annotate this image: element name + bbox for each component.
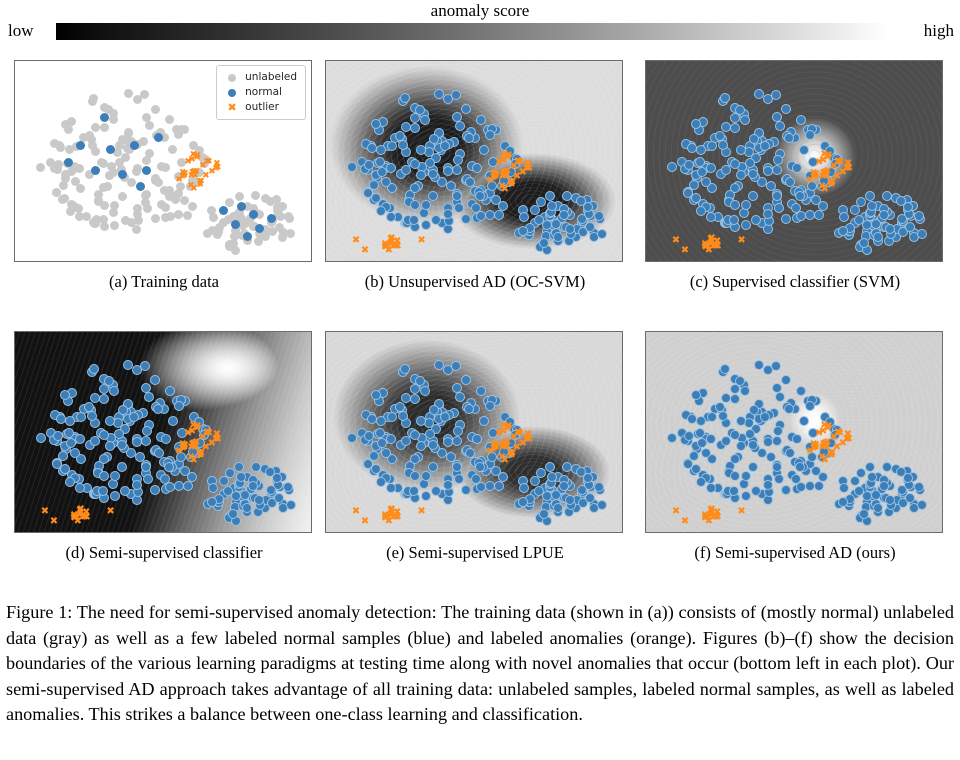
normal-point (720, 364, 730, 374)
normal-point (799, 416, 809, 426)
normal-point (706, 434, 716, 444)
normal-point (114, 429, 124, 439)
novel-anomaly-marker: ✖ (701, 513, 709, 523)
normal-point (741, 200, 751, 210)
labeled-normal-point (142, 166, 151, 175)
normal-point (701, 448, 711, 458)
normal-point (687, 414, 697, 424)
normal-point (696, 145, 706, 155)
normal-point (376, 145, 386, 155)
normal-point (518, 226, 528, 236)
normal-point (387, 141, 397, 151)
labeled-normal-point (154, 133, 163, 142)
normal-point (773, 426, 783, 436)
normal-point (882, 462, 892, 472)
normal-point (451, 361, 461, 371)
labeled-anomaly-marker: ✖ (489, 173, 497, 183)
panel-b-unsupervised-ad: ✖✖✖✖✖✖✖✖✖✖✖✖✖✖✖✖✖✖✖✖✖✖✖✖✖✖✖✖✖✖✖✖✖✖✖✖✖✖✖✖… (325, 60, 625, 292)
unlabeled-point (118, 192, 127, 201)
legend-item-outlier: ✖ outlier (223, 100, 297, 115)
normal-point (36, 433, 46, 443)
novel-anomaly-marker: ✖ (381, 242, 389, 252)
labeled-normal-point (267, 214, 276, 223)
normal-point (597, 500, 607, 510)
novel-anomaly-marker: ✖ (361, 246, 369, 256)
unlabeled-point (100, 201, 109, 210)
normal-point (387, 412, 397, 422)
normal-point (234, 462, 244, 472)
normal-point (683, 188, 693, 198)
normal-point (65, 477, 75, 487)
labeled-anomaly-marker: ✖ (834, 157, 842, 167)
unlabeled-point (110, 201, 119, 210)
normal-point (434, 89, 444, 99)
normal-point (420, 386, 430, 396)
labeled-normal-point (219, 206, 228, 215)
normal-point (219, 476, 229, 486)
normal-point (452, 436, 462, 446)
labeled-anomaly-marker: ✖ (178, 444, 186, 454)
normal-point (421, 491, 431, 501)
panel-c-scatter: ✖✖✖✖✖✖✖✖✖✖✖✖✖✖✖✖✖✖✖✖✖✖✖✖✖✖✖✖✖✖✖✖✖✖✖✖✖✖✖✖… (646, 61, 942, 261)
normal-point (109, 386, 119, 396)
normal-point (687, 143, 697, 153)
colorbar-low-label: low (8, 21, 34, 41)
normal-point (667, 162, 677, 172)
normal-point (472, 163, 482, 173)
normal-point (805, 401, 815, 411)
normal-point (453, 155, 463, 165)
unlabeled-point (140, 90, 149, 99)
panel-f-semi-supervised-ad-ours: ✖✖✖✖✖✖✖✖✖✖✖✖✖✖✖✖✖✖✖✖✖✖✖✖✖✖✖✖✖✖✖✖✖✖✖✖✖✖✖✖… (645, 331, 945, 563)
normal-point (52, 459, 62, 469)
normal-point (485, 401, 495, 411)
labeled-anomaly-marker: ✖ (203, 158, 211, 167)
normal-point (715, 402, 725, 412)
normal-point (105, 441, 115, 451)
normal-point (452, 191, 462, 201)
normal-point (763, 437, 773, 447)
unlabeled-dot-icon (223, 74, 241, 82)
labeled-anomaly-marker: ✖ (809, 444, 817, 454)
normal-point (775, 121, 785, 131)
scatter-legend: unlabeled normal ✖ outlier (216, 65, 306, 120)
normal-point (695, 157, 705, 167)
normal-point (76, 412, 86, 422)
unlabeled-point (145, 121, 154, 130)
normal-point (464, 133, 474, 143)
unlabeled-point (85, 131, 94, 140)
novel-anomaly-marker: ✖ (50, 517, 58, 527)
legend-label-outlier: outlier (245, 100, 279, 115)
panel-d-scatter: ✖✖✖✖✖✖✖✖✖✖✖✖✖✖✖✖✖✖✖✖✖✖✖✖✖✖✖✖✖✖✖✖✖✖✖✖✖✖✖✖… (15, 332, 311, 532)
labeled-anomaly-marker: ✖ (203, 428, 211, 438)
normal-point (367, 414, 377, 424)
normal-point (865, 462, 875, 472)
labeled-anomaly-marker: ✖ (189, 421, 197, 431)
normal-point (862, 220, 872, 230)
novel-anomaly-marker: ✖ (701, 242, 709, 252)
unlabeled-point (251, 191, 260, 200)
normal-point (879, 481, 889, 491)
panel-a-training-data: ✖✖✖✖✖✖✖✖✖✖✖✖✖✖✖✖✖✖✖✖✖✖✖✖✖✖✖✖ unlabeled n… (14, 60, 314, 292)
normal-point (897, 485, 907, 495)
normal-point (99, 430, 109, 440)
normal-point (174, 401, 184, 411)
normal-point (879, 210, 889, 220)
normal-point (784, 133, 794, 143)
normal-point (376, 416, 386, 426)
normal-point (542, 220, 552, 230)
unlabeled-point (151, 105, 160, 114)
normal-point (839, 483, 849, 493)
normal-point (741, 491, 751, 501)
normal-point (347, 162, 357, 172)
normal-point (99, 394, 109, 404)
normal-point (386, 483, 396, 493)
normal-dot-icon (223, 89, 241, 97)
labeled-anomaly-marker: ✖ (508, 178, 516, 188)
labeled-anomaly-marker: ✖ (489, 444, 497, 454)
panel-e-plot-area: ✖✖✖✖✖✖✖✖✖✖✖✖✖✖✖✖✖✖✖✖✖✖✖✖✖✖✖✖✖✖✖✖✖✖✖✖✖✖✖✖… (325, 331, 623, 533)
labeled-normal-point (100, 113, 109, 122)
normal-point (400, 364, 410, 374)
normal-point (401, 165, 411, 175)
normal-point (443, 437, 453, 447)
normal-point (153, 404, 163, 414)
normal-point (559, 210, 569, 220)
normal-point (410, 430, 420, 440)
panel-b-plot-area: ✖✖✖✖✖✖✖✖✖✖✖✖✖✖✖✖✖✖✖✖✖✖✖✖✖✖✖✖✖✖✖✖✖✖✖✖✖✖✖✖… (325, 60, 623, 262)
labeled-anomaly-marker: ✖ (500, 150, 508, 160)
normal-point (161, 434, 171, 444)
panel-c-plot-area: ✖✖✖✖✖✖✖✖✖✖✖✖✖✖✖✖✖✖✖✖✖✖✖✖✖✖✖✖✖✖✖✖✖✖✖✖✖✖✖✖… (645, 60, 943, 262)
normal-point (562, 191, 572, 201)
normal-point (771, 90, 781, 100)
normal-point (375, 428, 385, 438)
panel-a-caption: (a) Training data (14, 272, 314, 292)
normal-point (730, 454, 740, 464)
labeled-normal-point (237, 202, 246, 211)
panel-c-caption: (c) Supervised classifier (SVM) (645, 272, 945, 292)
normal-point (123, 360, 133, 370)
normal-point (286, 500, 296, 510)
normal-point (882, 191, 892, 201)
panel-b-caption: (b) Unsupervised AD (OC-SVM) (325, 272, 625, 292)
normal-point (461, 214, 471, 224)
normal-point (871, 490, 881, 500)
unlabeled-point (121, 216, 130, 225)
normal-point (208, 483, 218, 493)
normal-point (452, 165, 462, 175)
normal-point (530, 476, 540, 486)
normal-point (476, 386, 486, 396)
normal-point (248, 481, 258, 491)
normal-point (565, 224, 575, 234)
unlabeled-point (174, 210, 183, 219)
unlabeled-point (132, 167, 141, 176)
normal-point (410, 159, 420, 169)
normal-point (476, 211, 486, 221)
normal-point (168, 416, 178, 426)
legend-label-unlabeled: unlabeled (245, 70, 297, 85)
novel-anomaly-marker: ✖ (737, 236, 745, 246)
normal-point (56, 414, 66, 424)
normal-point (381, 448, 391, 458)
novel-anomaly-marker: ✖ (41, 507, 49, 517)
normal-point (386, 434, 396, 444)
normal-point (850, 476, 860, 486)
normal-point (461, 485, 471, 495)
normal-point (207, 497, 217, 507)
normal-point (476, 115, 486, 125)
normal-point (771, 361, 781, 371)
normal-point (736, 170, 746, 180)
legend-item-unlabeled: unlabeled (223, 70, 297, 85)
unlabeled-point (273, 203, 282, 212)
unlabeled-point (161, 163, 170, 172)
normal-point (748, 191, 758, 201)
unlabeled-point (229, 239, 238, 248)
normal-point (730, 430, 740, 440)
labeled-anomaly-marker: ✖ (809, 173, 817, 183)
panel-f-caption: (f) Semi-supervised AD (ours) (645, 543, 945, 563)
normal-point (451, 90, 461, 100)
labeled-anomaly-marker: ✖ (820, 150, 828, 160)
normal-point (386, 163, 396, 173)
normal-point (251, 462, 261, 472)
normal-point (464, 404, 474, 414)
normal-point (110, 471, 120, 481)
normal-point (785, 177, 795, 187)
normal-point (240, 490, 250, 500)
normal-point (730, 471, 740, 481)
normal-point (551, 219, 561, 229)
normal-point (461, 104, 471, 114)
unlabeled-point (284, 212, 293, 221)
normal-point (736, 441, 746, 451)
normal-point (696, 206, 706, 216)
labeled-anomaly-marker: ✖ (828, 449, 836, 459)
normal-point (266, 485, 276, 495)
novel-anomaly-marker: ✖ (417, 507, 425, 517)
legend-item-normal: normal (223, 85, 297, 100)
normal-point (772, 436, 782, 446)
normal-point (772, 462, 782, 472)
normal-point (254, 495, 264, 505)
normal-point (410, 384, 420, 394)
normal-point (696, 477, 706, 487)
normal-point (721, 436, 731, 446)
normal-point (99, 471, 109, 481)
normal-point (850, 205, 860, 215)
normal-point (183, 481, 193, 491)
normal-point (434, 360, 444, 370)
normal-point (763, 166, 773, 176)
labeled-anomaly-marker: ✖ (508, 449, 516, 459)
normal-point (530, 205, 540, 215)
normal-point (110, 491, 120, 501)
normal-point (421, 471, 431, 481)
normal-point (885, 495, 895, 505)
unlabeled-point (254, 237, 263, 246)
normal-point (440, 412, 450, 422)
normal-point (871, 219, 881, 229)
normal-point (479, 416, 489, 426)
labeled-normal-point (118, 170, 127, 179)
unlabeled-point (188, 202, 197, 211)
labeled-anomaly-marker: ✖ (197, 178, 205, 187)
unlabeled-point (154, 178, 163, 187)
unlabeled-point (235, 192, 244, 201)
normal-point (701, 177, 711, 187)
novel-anomaly-marker: ✖ (352, 507, 360, 517)
normal-point (796, 115, 806, 125)
figure-caption: Figure 1: The need for semi-supervised a… (6, 600, 954, 728)
normal-point (453, 426, 463, 436)
unlabeled-point (142, 156, 151, 165)
unlabeled-point (54, 160, 63, 169)
unlabeled-point (118, 135, 127, 144)
normal-point (118, 405, 128, 415)
normal-point (75, 483, 85, 493)
labeled-anomaly-marker: ✖ (834, 428, 842, 438)
normal-point (565, 495, 575, 505)
labeled-normal-point (136, 182, 145, 191)
normal-point (707, 141, 717, 151)
normal-point (75, 434, 85, 444)
unlabeled-point (143, 204, 152, 213)
panel-e-caption: (e) Semi-supervised LPUE (325, 543, 625, 563)
normal-point (772, 165, 782, 175)
normal-point (89, 364, 99, 374)
panel-f-plot-area: ✖✖✖✖✖✖✖✖✖✖✖✖✖✖✖✖✖✖✖✖✖✖✖✖✖✖✖✖✖✖✖✖✖✖✖✖✖✖✖✖… (645, 331, 943, 533)
unlabeled-point (225, 198, 234, 207)
normal-point (465, 448, 475, 458)
normal-point (792, 163, 802, 173)
normal-point (792, 434, 802, 444)
unlabeled-point (65, 145, 74, 154)
unlabeled-point (165, 192, 174, 201)
labeled-anomaly-marker: ✖ (844, 430, 852, 440)
unlabeled-point (115, 158, 124, 167)
labeled-normal-point (91, 166, 100, 175)
normal-point (749, 134, 759, 144)
unlabeled-point (275, 223, 284, 232)
normal-point (885, 224, 895, 234)
normal-point (773, 155, 783, 165)
panel-d-caption: (d) Semi-supervised classifier (14, 543, 314, 563)
normal-point (862, 491, 872, 501)
novel-anomaly-marker: ✖ (672, 507, 680, 517)
normal-point (745, 158, 755, 168)
normal-point (799, 145, 809, 155)
normal-point (410, 394, 420, 404)
unlabeled-point (105, 171, 114, 180)
labeled-anomaly-marker: ✖ (213, 430, 221, 440)
normal-point (774, 203, 784, 213)
normal-point (917, 500, 927, 510)
normal-point (748, 462, 758, 472)
unlabeled-point (99, 215, 108, 224)
normal-point (545, 462, 555, 472)
normal-point (740, 386, 750, 396)
normal-point (154, 448, 164, 458)
normal-point (165, 482, 175, 492)
unlabeled-point (56, 143, 65, 152)
normal-point (760, 141, 770, 151)
normal-point (129, 412, 139, 422)
normal-point (420, 115, 430, 125)
normal-point (785, 448, 795, 458)
colorbar-title: anomaly score (0, 2, 960, 20)
normal-point (897, 214, 907, 224)
normal-point (729, 215, 739, 225)
unlabeled-point (36, 163, 45, 172)
unlabeled-point (165, 115, 174, 124)
unlabeled-point (208, 226, 217, 235)
normal-point (409, 215, 419, 225)
normal-point (494, 481, 504, 491)
normal-point (696, 416, 706, 426)
normal-point (775, 392, 785, 402)
normal-point (518, 497, 528, 507)
normal-point (730, 200, 740, 210)
normal-point (117, 462, 127, 472)
normal-point (65, 416, 75, 426)
novel-anomaly-marker: ✖ (417, 236, 425, 246)
panel-e-semi-supervised-lpue: ✖✖✖✖✖✖✖✖✖✖✖✖✖✖✖✖✖✖✖✖✖✖✖✖✖✖✖✖✖✖✖✖✖✖✖✖✖✖✖✖… (325, 331, 625, 563)
unlabeled-point (88, 141, 97, 150)
normal-point (485, 130, 495, 140)
normal-point (70, 448, 80, 458)
normal-point (749, 405, 759, 415)
normal-point (805, 130, 815, 140)
unlabeled-point (133, 210, 142, 219)
unlabeled-point (132, 225, 141, 234)
novel-anomaly-marker: ✖ (70, 513, 78, 523)
normal-point (140, 361, 150, 371)
normal-point (494, 210, 504, 220)
unlabeled-point (75, 164, 84, 173)
labeled-anomaly-marker: ✖ (213, 160, 221, 169)
labeled-anomaly-marker: ✖ (514, 157, 522, 167)
novel-anomaly-marker: ✖ (352, 236, 360, 246)
normal-point (706, 163, 716, 173)
unlabeled-point (109, 115, 118, 124)
normal-point (455, 392, 465, 402)
normal-point (99, 454, 109, 464)
labeled-anomaly-marker: ✖ (524, 159, 532, 169)
normal-point (917, 229, 927, 239)
normal-point (784, 404, 794, 414)
novel-anomaly-marker: ✖ (672, 236, 680, 246)
normal-point (99, 384, 109, 394)
labeled-anomaly-marker: ✖ (179, 173, 187, 182)
unlabeled-point (151, 214, 160, 223)
normal-point (64, 428, 74, 438)
unlabeled-point (166, 212, 175, 221)
normal-point (454, 474, 464, 484)
labeled-normal-point (76, 141, 85, 150)
labeled-anomaly-marker: ✖ (844, 159, 852, 169)
normal-point (409, 486, 419, 496)
labeled-anomaly-marker: ✖ (820, 421, 828, 431)
normal-point (363, 459, 373, 469)
normal-point (375, 157, 385, 167)
normal-point (760, 412, 770, 422)
normal-point (410, 454, 420, 464)
